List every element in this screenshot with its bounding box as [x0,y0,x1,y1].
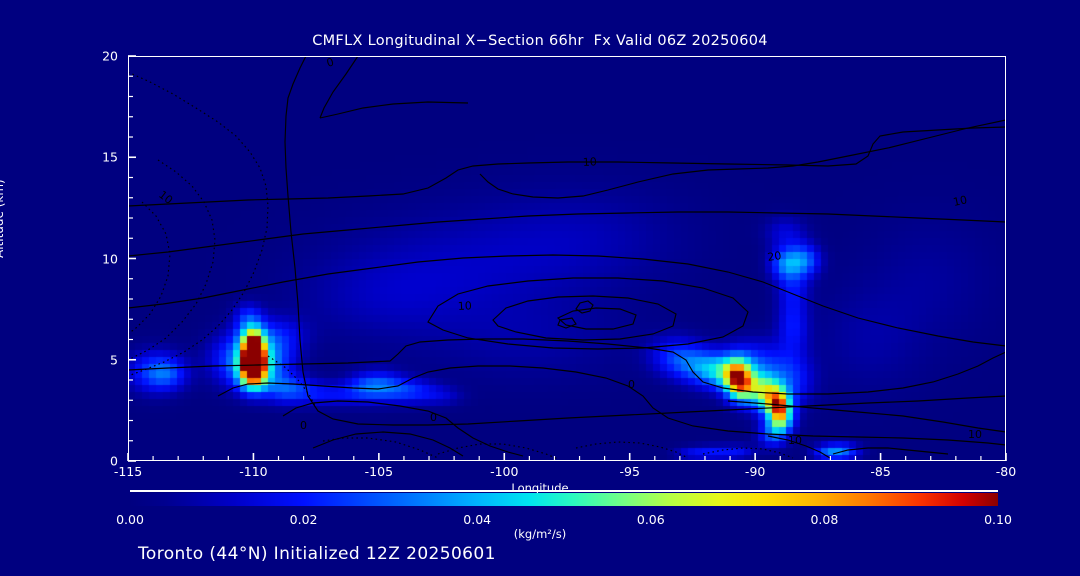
footer-label: Toronto (44°N) Initialized 12Z 20250601 [138,544,496,564]
y-tick-label: 20 [84,49,118,64]
x-tick-label: -110 [239,464,267,479]
colorbar-tick-label: 0.00 [116,512,144,527]
y-tick-label: 5 [84,352,118,367]
x-tick-label: -90 [745,464,765,479]
colorbar-tick-label: 0.08 [810,512,838,527]
contour-overlay: 0 10 10 10 20 0 0 0 10 10 10 [128,56,1006,461]
svg-text:10: 10 [457,299,472,313]
svg-text:0: 0 [628,378,635,391]
svg-text:10: 10 [968,428,982,441]
chart-canvas: CMFLX Longitudinal X−Section 66hr Fx Val… [0,0,1080,576]
y-axis-title: Altitude (km) [0,179,6,258]
svg-text:10: 10 [952,193,968,209]
y-tick-label: 0 [84,454,118,469]
colorbar-tick-label: 0.04 [463,512,491,527]
colorbar-tick-label: 0.10 [984,512,1012,527]
chart-title: CMFLX Longitudinal X−Section 66hr Fx Val… [0,33,1080,49]
svg-text:20: 20 [767,249,783,264]
svg-text:0: 0 [430,411,437,424]
plot-area: 0 10 10 10 20 0 0 0 10 10 10 [128,56,1006,461]
colorbar-units: (kg/m²/s) [0,527,1080,541]
x-tick-label: -80 [996,464,1016,479]
svg-text:10: 10 [582,155,597,169]
y-tick-label: 10 [84,251,118,266]
x-tick-label: -100 [490,464,518,479]
colorbar [130,493,998,506]
svg-text:0: 0 [325,56,336,70]
x-tick-label: -95 [619,464,639,479]
colorbar-tick-label: 0.02 [290,512,318,527]
x-tick-label: -115 [114,464,142,479]
x-tick-label: -85 [870,464,890,479]
x-tick-label: -105 [365,464,393,479]
svg-text:0: 0 [300,419,307,432]
colorbar-tick-label: 0.06 [637,512,665,527]
y-tick-label: 15 [84,150,118,165]
svg-text:10: 10 [788,434,802,447]
